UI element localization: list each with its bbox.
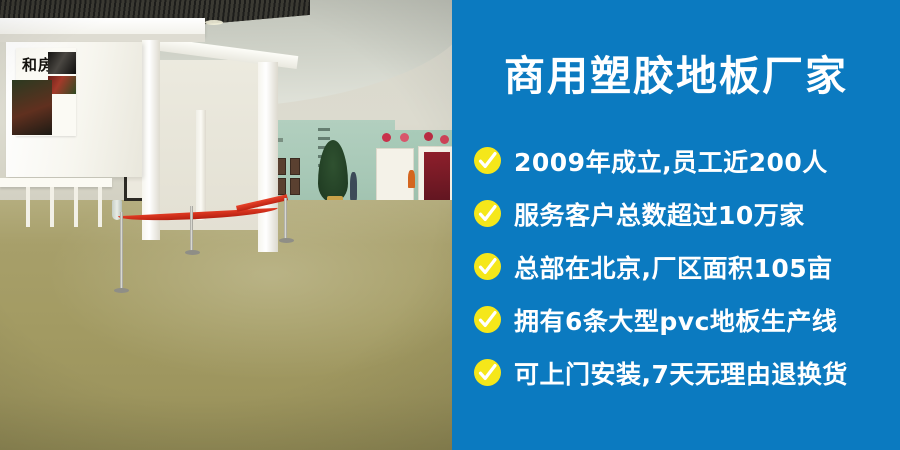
photo-vignette [0, 0, 452, 450]
list-item-label: 总部在北京,厂区面积105亩 [514, 249, 833, 285]
list-item-label: 服务客户总数超过10万家 [514, 196, 805, 232]
list-item: 服务客户总数超过10万家 [474, 187, 900, 240]
promo-banner: 和房 商用塑胶地板厂家 2009年成立,员工近200人 [0, 0, 900, 450]
check-circle-icon [474, 359, 501, 386]
check-circle-icon [474, 306, 501, 333]
feature-list: 2009年成立,员工近200人 服务客户总数超过10万家 总部在北京,厂区面积1… [474, 134, 900, 399]
check-circle-icon [474, 200, 501, 227]
blue-info-panel: 商用塑胶地板厂家 2009年成立,员工近200人 服务客户总数超过10万家 [452, 0, 900, 450]
list-item: 总部在北京,厂区面积105亩 [474, 240, 900, 293]
list-item: 可上门安装,7天无理由退换货 [474, 346, 900, 399]
list-item: 拥有6条大型pvc地板生产线 [474, 293, 900, 346]
check-circle-icon [474, 253, 501, 280]
list-item: 2009年成立,员工近200人 [474, 134, 900, 187]
check-circle-icon [474, 147, 501, 174]
list-item-label: 2009年成立,员工近200人 [514, 143, 828, 179]
page-title: 商用塑胶地板厂家 [452, 54, 900, 99]
list-item-label: 可上门安装,7天无理由退换货 [514, 355, 848, 391]
exhibition-hall-photo: 和房 [0, 0, 452, 450]
list-item-label: 拥有6条大型pvc地板生产线 [514, 302, 837, 338]
